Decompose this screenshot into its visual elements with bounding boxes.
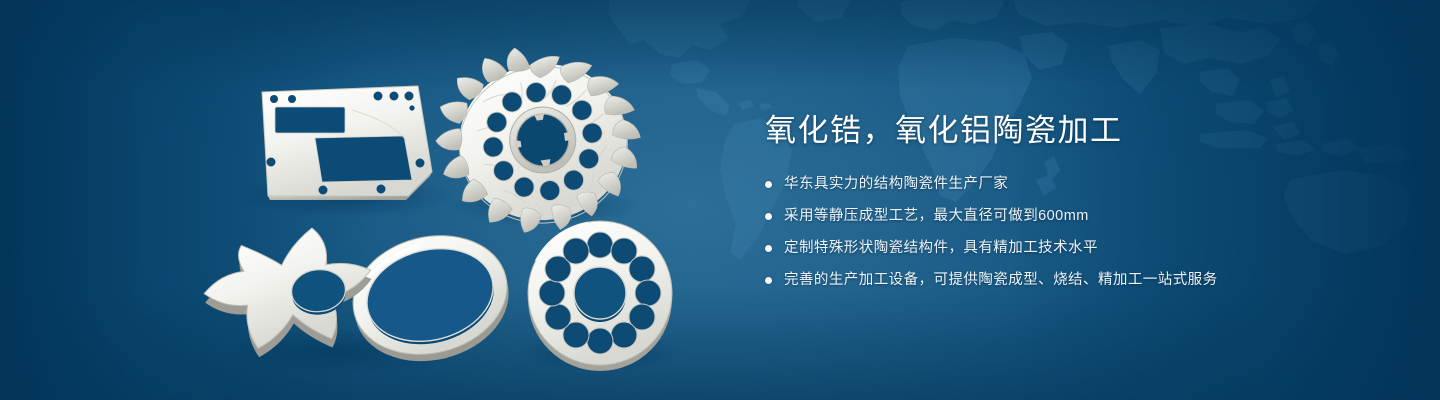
list-item: 采用等静压成型工艺，最大直径可做到600mm (765, 206, 1385, 226)
feature-text: 完善的生产加工设备，可提供陶瓷成型、烧结、精加工一站式服务 (784, 270, 1218, 290)
list-item: 华东具实力的结构陶瓷件生产厂家 (765, 174, 1385, 194)
bullet-icon (765, 245, 772, 252)
list-item: 完善的生产加工设备，可提供陶瓷成型、烧结、精加工一站式服务 (765, 270, 1385, 290)
banner-copy: 氧化锆，氧化铝陶瓷加工 华东具实力的结构陶瓷件生产厂家 采用等静压成型工艺，最大… (765, 110, 1385, 290)
feature-text: 采用等静压成型工艺，最大直径可做到600mm (784, 206, 1089, 226)
feature-text: 定制特殊形状陶瓷结构件，具有精加工技术水平 (784, 238, 1098, 258)
list-item: 定制特殊形状陶瓷结构件，具有精加工技术水平 (765, 238, 1385, 258)
feature-list: 华东具实力的结构陶瓷件生产厂家 采用等静压成型工艺，最大直径可做到600mm 定… (765, 174, 1385, 290)
product-hero-banner: 氧化锆，氧化铝陶瓷加工 华东具实力的结构陶瓷件生产厂家 采用等静压成型工艺，最大… (0, 0, 1440, 400)
feature-text: 华东具实力的结构陶瓷件生产厂家 (784, 174, 1008, 194)
bullet-icon (765, 277, 772, 284)
page-title: 氧化锆，氧化铝陶瓷加工 (765, 110, 1385, 152)
bullet-icon (765, 213, 772, 220)
bullet-icon (765, 181, 772, 188)
